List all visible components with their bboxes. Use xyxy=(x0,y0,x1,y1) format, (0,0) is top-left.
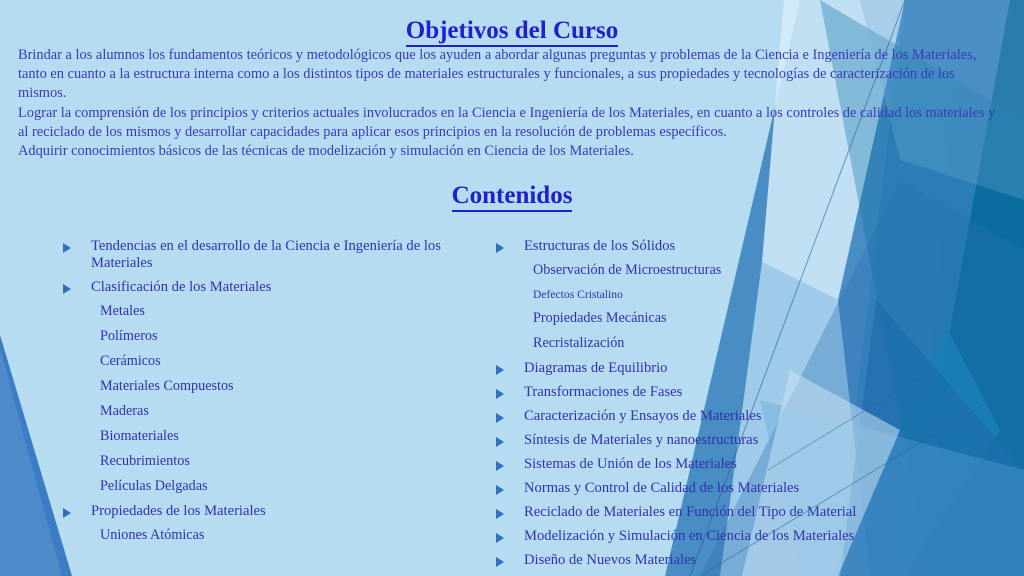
list-item-label: Sistemas de Unión de los Materiales xyxy=(524,456,908,473)
list-item-label: Recubrimientos xyxy=(100,453,475,470)
list-item[interactable]: Uniones Atómicas xyxy=(55,527,475,544)
heading-contenidos: Contenidos xyxy=(0,181,1024,211)
list-item-label: Uniones Atómicas xyxy=(100,527,475,544)
triangle-bullet-icon xyxy=(496,437,504,447)
list-item[interactable]: Estructuras de los Sólidos xyxy=(488,238,908,255)
list-item[interactable]: Clasificación de los Materiales xyxy=(55,279,475,296)
contents-right-column: Estructuras de los Sólidos Observación d… xyxy=(488,238,908,576)
list-item[interactable]: Defectos Cristalino xyxy=(488,287,908,302)
list-item-label: Normas y Control de Calidad de los Mater… xyxy=(524,480,908,497)
list-item[interactable]: Diseño de Nuevos Materiales xyxy=(488,552,908,569)
list-item-label: Observación de Microestructuras xyxy=(533,262,908,279)
intro-paragraphs: Brindar a los alumnos los fundamentos te… xyxy=(18,46,1006,161)
list-item-label: Estructuras de los Sólidos xyxy=(524,238,908,255)
list-item[interactable]: Normas y Control de Calidad de los Mater… xyxy=(488,480,908,497)
triangle-bullet-icon xyxy=(496,389,504,399)
list-item-label: Materiales Compuestos xyxy=(100,378,475,395)
list-item[interactable]: Sistemas de Unión de los Materiales xyxy=(488,456,908,473)
list-item-label: Transformaciones de Fases xyxy=(524,384,908,401)
list-item[interactable]: Cerámicos xyxy=(55,353,475,370)
list-item-label: Metales xyxy=(100,303,475,320)
list-item-label: Reciclado de Materiales en Función del T… xyxy=(524,504,908,521)
list-item-label: Propiedades de los Materiales xyxy=(91,503,475,520)
triangle-bullet-icon xyxy=(496,461,504,471)
list-item[interactable]: Maderas xyxy=(55,403,475,420)
list-item-label: Tendencias en el desarrollo de la Cienci… xyxy=(91,238,475,272)
list-item-label: Recristalización xyxy=(533,335,908,352)
triangle-bullet-icon xyxy=(63,284,71,294)
list-item[interactable]: Modelización y Simulación en Ciencia de … xyxy=(488,528,908,545)
triangle-bullet-icon xyxy=(496,243,504,253)
heading-objetivos-text: Objetivos del Curso xyxy=(406,17,619,47)
list-item[interactable]: Materiales Compuestos xyxy=(55,378,475,395)
list-item-label: Cerámicos xyxy=(100,353,475,370)
triangle-bullet-icon xyxy=(63,508,71,518)
triangle-bullet-icon xyxy=(496,533,504,543)
slide-canvas: Objetivos del Curso Brindar a los alumno… xyxy=(0,0,1024,576)
list-item[interactable]: Tendencias en el desarrollo de la Cienci… xyxy=(55,238,475,272)
list-item[interactable]: Caracterización y Ensayos de Materiales xyxy=(488,408,908,425)
list-item-label: Defectos Cristalino xyxy=(533,287,908,302)
list-item[interactable]: Polímeros xyxy=(55,328,475,345)
triangle-bullet-icon xyxy=(496,413,504,423)
list-item-label: Diagramas de Equilibrio xyxy=(524,360,908,377)
triangle-bullet-icon xyxy=(496,365,504,375)
list-item[interactable]: Propiedades de los Materiales xyxy=(55,503,475,520)
list-item-label: Películas Delgadas xyxy=(100,478,475,495)
list-item-label: Maderas xyxy=(100,403,475,420)
list-item-label: Caracterización y Ensayos de Materiales xyxy=(524,408,908,425)
contents-left-column: Tendencias en el desarrollo de la Cienci… xyxy=(55,238,475,552)
list-item-label: Diseño de Nuevos Materiales xyxy=(524,552,908,569)
list-item[interactable]: Diagramas de Equilibrio xyxy=(488,360,908,377)
triangle-bullet-icon xyxy=(496,485,504,495)
list-item-label: Clasificación de los Materiales xyxy=(91,279,475,296)
list-item[interactable]: Biomateriales xyxy=(55,428,475,445)
list-item-label: Propiedades Mecánicas xyxy=(533,310,908,327)
triangle-bullet-icon xyxy=(496,557,504,567)
heading-contenidos-text: Contenidos xyxy=(452,182,573,212)
list-item-label: Síntesis de Materiales y nanoestructuras xyxy=(524,432,908,449)
triangle-bullet-icon xyxy=(496,509,504,519)
list-item[interactable]: Transformaciones de Fases xyxy=(488,384,908,401)
list-item[interactable]: Recubrimientos xyxy=(55,453,475,470)
heading-objetivos: Objetivos del Curso xyxy=(0,16,1024,46)
list-item[interactable]: Películas Delgadas xyxy=(55,478,475,495)
list-item[interactable]: Metales xyxy=(55,303,475,320)
list-item[interactable]: Propiedades Mecánicas xyxy=(488,310,908,327)
intro-paragraph: Brindar a los alumnos los fundamentos te… xyxy=(18,46,1006,104)
triangle-bullet-icon xyxy=(63,243,71,253)
list-item[interactable]: Síntesis de Materiales y nanoestructuras xyxy=(488,432,908,449)
list-item-label: Polímeros xyxy=(100,328,475,345)
intro-paragraph: Adquirir conocimientos básicos de las té… xyxy=(18,142,1006,161)
list-item-label: Modelización y Simulación en Ciencia de … xyxy=(524,528,908,545)
list-item[interactable]: Recristalización xyxy=(488,335,908,352)
list-item[interactable]: Observación de Microestructuras xyxy=(488,262,908,279)
list-item-label: Biomateriales xyxy=(100,428,475,445)
list-item[interactable]: Reciclado de Materiales en Función del T… xyxy=(488,504,908,521)
intro-paragraph: Lograr la comprensión de los principios … xyxy=(18,104,1006,142)
